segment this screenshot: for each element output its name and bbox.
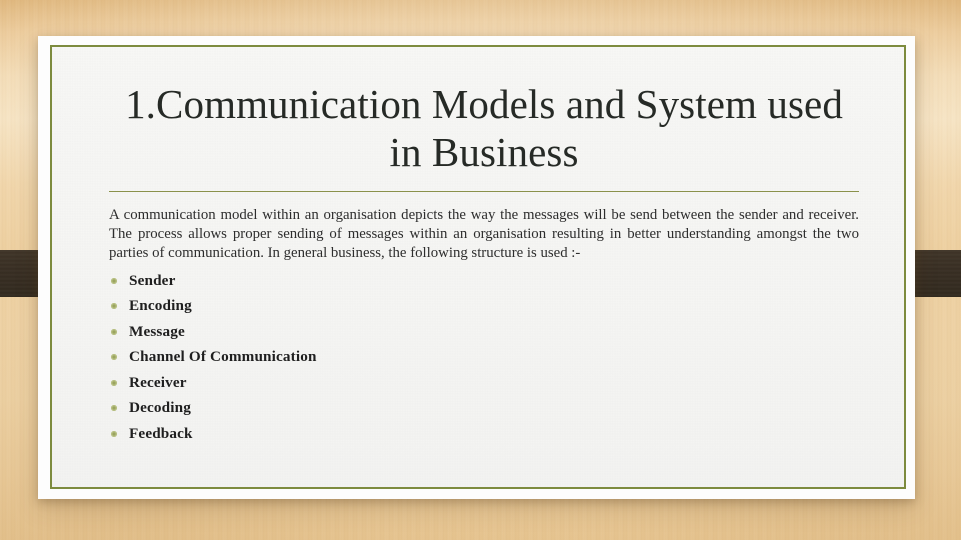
body-paragraph: A communication model within an organisa… [109,206,859,264]
slide-olive-frame: 1.Communication Models and System used i… [50,45,906,489]
bullet-item-label: Channel Of Communication [129,348,317,365]
slide-card: 1.Communication Models and System used i… [38,36,915,499]
bullet-item: Sender [109,273,859,289]
bullet-item: Decoding [109,400,859,416]
bullet-dot-icon [111,405,117,411]
bullet-dot-icon [111,354,117,360]
bullet-item: Feedback [109,426,859,442]
bullet-item-label: Encoding [129,297,192,314]
bullet-item: Receiver [109,375,859,391]
slide-title: 1.Communication Models and System used i… [109,80,859,176]
bullet-item-label: Sender [129,272,175,289]
bullet-dot-icon [111,329,117,335]
bullet-dot-icon [111,431,117,437]
bullet-list: SenderEncodingMessageChannel Of Communic… [109,273,859,442]
bullet-dot-icon [111,303,117,309]
bullet-dot-icon [111,380,117,386]
bullet-item: Channel Of Communication [109,349,859,365]
bullet-item-label: Receiver [129,374,187,391]
title-divider-rule [109,191,859,192]
bullet-dot-icon [111,278,117,284]
bullet-item-label: Decoding [129,399,191,416]
bullet-item: Message [109,324,859,340]
bullet-item-label: Feedback [129,425,193,442]
bullet-item: Encoding [109,298,859,314]
bullet-item-label: Message [129,323,185,340]
slide-content: 1.Communication Models and System used i… [52,80,904,520]
